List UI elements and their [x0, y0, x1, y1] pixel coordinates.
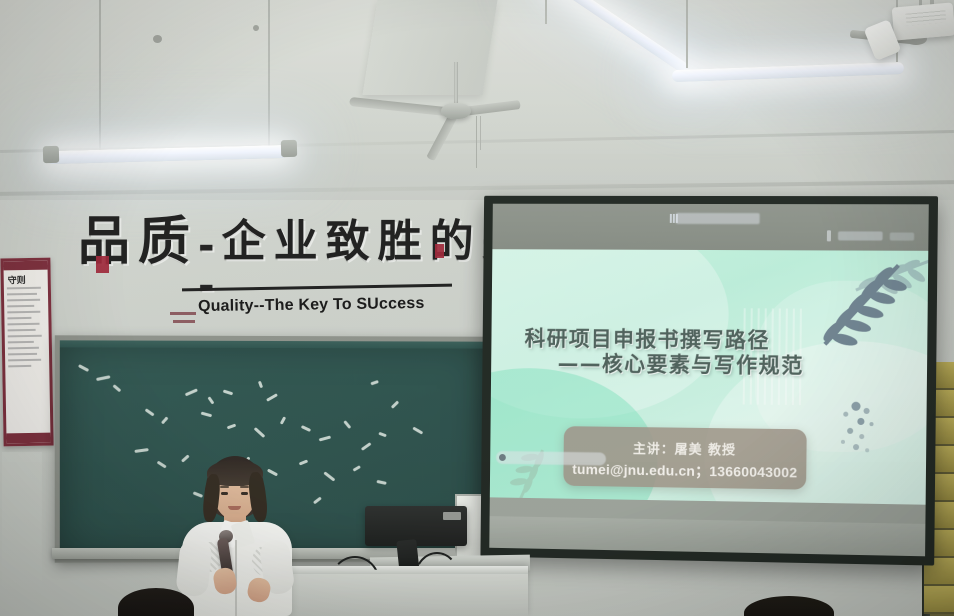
light-rod: [268, 0, 270, 150]
poster-header-bar: [3, 261, 47, 271]
taskbar-indicator-dot: [499, 454, 506, 461]
chalk-mark: [161, 416, 169, 424]
slide-decor-dots: [837, 400, 884, 457]
chalk-mark: [323, 471, 335, 481]
poster-body-text: [7, 287, 46, 372]
light-end-cap: [43, 146, 59, 163]
powerpoint-toolbar[interactable]: [492, 204, 928, 251]
chalk-mark: [301, 425, 311, 432]
chalk-mark: [112, 384, 121, 392]
ceiling-fixture-dot: [253, 25, 259, 31]
chalk-mark: [258, 381, 263, 389]
light-end-cap: [281, 140, 297, 157]
taskbar-overlay[interactable]: [496, 451, 606, 466]
chalk-mark: [266, 393, 278, 402]
banner-english-text: Quality--The Key To SUccess: [198, 294, 498, 316]
toolbar-icon[interactable]: [827, 230, 831, 241]
chalk-mark: [319, 436, 331, 442]
eye: [221, 492, 228, 495]
projection-screen-frame: 科研项目申报书撰写路径 ——核心要素与写作规范 主讲：屠美 教授 tumei@j…: [480, 196, 938, 566]
banner-char-3: 企: [222, 220, 264, 264]
chalk-mark: [280, 416, 286, 424]
light-rod: [545, 0, 547, 24]
projection-screen[interactable]: 科研项目申报书撰写路径 ——核心要素与写作规范 主讲：屠美 教授 tumei@j…: [489, 204, 928, 557]
ceiling-beam: [362, 0, 497, 95]
chalk-mark: [201, 412, 212, 418]
toolbar-label-secondary: [890, 232, 915, 240]
fan-pull-chain: [476, 116, 477, 168]
chalk-mark: [185, 388, 198, 396]
eyebrow: [220, 486, 229, 488]
banner-char-2: 质: [138, 216, 188, 268]
banner-dash: --: [198, 226, 212, 306]
classroom-photo: 品 质 -- 企 业 致 胜 的 关 键 Quality--The Key To…: [0, 0, 954, 616]
banner-accent-block: [435, 244, 444, 258]
ceiling-fan-hub: [441, 103, 471, 119]
chalk-mark: [227, 424, 237, 430]
slide-bottom-bar: [489, 516, 925, 556]
ceiling-fixture-dot: [153, 35, 162, 43]
chalkboard-top-edge: [60, 340, 484, 348]
light-rod: [686, 0, 688, 68]
chalk-mark: [412, 427, 423, 435]
wall-faint-marking: [2, 452, 42, 602]
toolbar-title-chip: [676, 213, 760, 224]
banner-mark: [173, 320, 195, 323]
banner-underline: [182, 284, 452, 292]
chalk-mark: [134, 448, 148, 453]
slide-title: 科研项目申报书撰写路径 ——核心要素与写作规范: [524, 327, 853, 379]
presenter: [176, 456, 296, 616]
chalk-mark: [207, 396, 214, 404]
poster-footer-bar: [6, 433, 50, 444]
chalk-mark: [145, 408, 155, 416]
wall-banner: 品 质 -- 企 业 致 胜 的 关 键 Quality--The Key To…: [78, 216, 498, 324]
banner-accent-block: [96, 256, 109, 273]
chalk-mark: [299, 459, 308, 465]
chalk-mark: [376, 480, 386, 485]
eye: [241, 492, 248, 495]
wall-tile: [924, 586, 954, 614]
chalk-mark: [223, 389, 233, 395]
banner-char-6: 胜: [378, 220, 420, 264]
presentation-slide: 科研项目申报书撰写路径 ——核心要素与写作规范 主讲：屠美 教授 tumei@j…: [490, 249, 928, 505]
slide-title-line-1: 科研项目申报书撰写路径: [525, 327, 854, 355]
light-rod: [99, 0, 101, 150]
toolbar-label: [838, 231, 883, 240]
fan-pull-chain: [480, 116, 481, 150]
chalk-mark: [343, 420, 351, 429]
banner-char-4: 业: [274, 220, 316, 264]
chalk-mark: [157, 461, 167, 469]
eyebrow: [240, 486, 249, 488]
monitor-label: [443, 512, 461, 520]
poster-title: 守则: [8, 273, 26, 286]
mouth: [228, 506, 241, 510]
banner-char-5: 致: [326, 220, 368, 264]
chalk-mark: [361, 442, 372, 451]
chalk-mark: [353, 465, 361, 472]
chalk-mark: [391, 400, 399, 408]
chalk-mark: [313, 496, 322, 504]
chalk-mark: [254, 427, 266, 438]
wall-notice-poster: 守则: [0, 258, 53, 447]
chalk-mark: [78, 364, 89, 372]
chalk-mark: [370, 380, 378, 385]
toolbar-right-group[interactable]: [827, 230, 914, 241]
chalk-mark: [378, 432, 386, 438]
slide-title-line-2: ——核心要素与写作规范: [558, 351, 853, 379]
chalk-mark: [96, 375, 110, 381]
ceiling-fan-rod: [454, 62, 458, 106]
banner-mark: [170, 312, 196, 315]
